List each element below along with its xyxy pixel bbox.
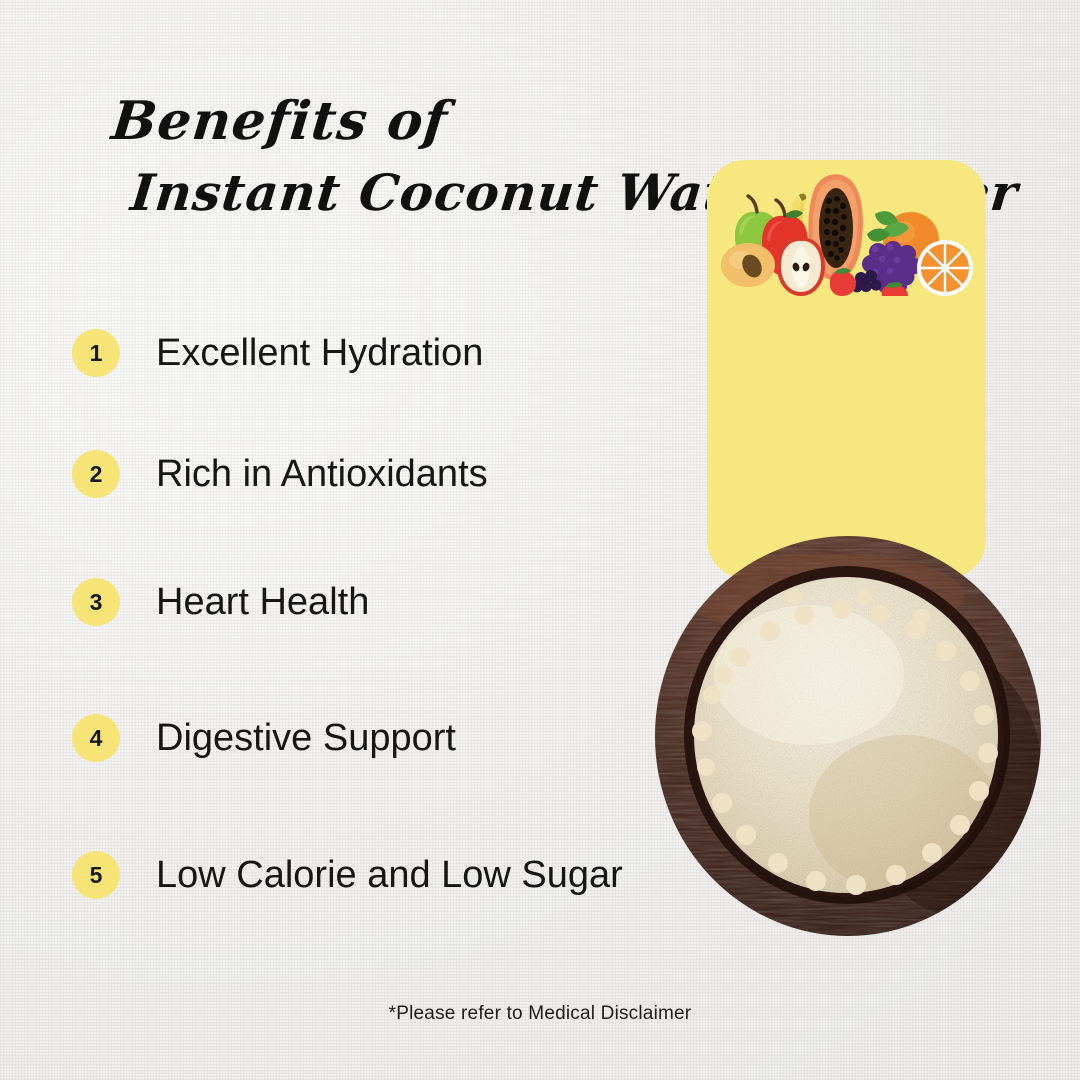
title-line-1: Benefits of [109, 92, 763, 150]
badge-number: 5 [90, 864, 103, 887]
list-item: 2 Rich in Antioxidants [72, 450, 488, 498]
coconut-water-powder-in-wooden-bowl [654, 535, 1042, 938]
assorted-fruit-illustration [715, 168, 980, 296]
list-item: 3 Heart Health [72, 578, 369, 626]
infographic-canvas: Benefits of Instant Coconut Water Powder… [0, 0, 1080, 1080]
benefit-label-1: Excellent Hydration [156, 334, 483, 372]
list-item: 5 Low Calorie and Low Sugar [72, 851, 623, 899]
badge-number: 4 [90, 727, 103, 750]
list-item: 1 Excellent Hydration [72, 329, 483, 377]
benefit-badge-1: 1 [72, 329, 120, 377]
benefit-badge-2: 2 [72, 450, 120, 498]
apricot-icon [721, 243, 775, 287]
list-item: 4 Digestive Support [72, 714, 456, 762]
benefit-label-5: Low Calorie and Low Sugar [156, 856, 623, 894]
title-line-2: Instant Coconut Water Powder [128, 164, 763, 222]
benefit-label-4: Digestive Support [156, 719, 456, 757]
badge-number: 3 [90, 591, 103, 614]
page-title: Benefits of Instant Coconut Water Powder [0, 92, 760, 222]
benefit-badge-4: 4 [72, 714, 120, 762]
badge-number: 1 [90, 342, 103, 365]
badge-number: 2 [90, 463, 103, 486]
medical-disclaimer: *Please refer to Medical Disclaimer [0, 1003, 1080, 1025]
halved-apple-icon [777, 238, 825, 296]
benefit-label-3: Heart Health [156, 583, 369, 621]
benefit-badge-3: 3 [72, 578, 120, 626]
orange-slice-icon [917, 240, 973, 296]
benefit-label-2: Rich in Antioxidants [156, 455, 488, 493]
benefit-badge-5: 5 [72, 851, 120, 899]
